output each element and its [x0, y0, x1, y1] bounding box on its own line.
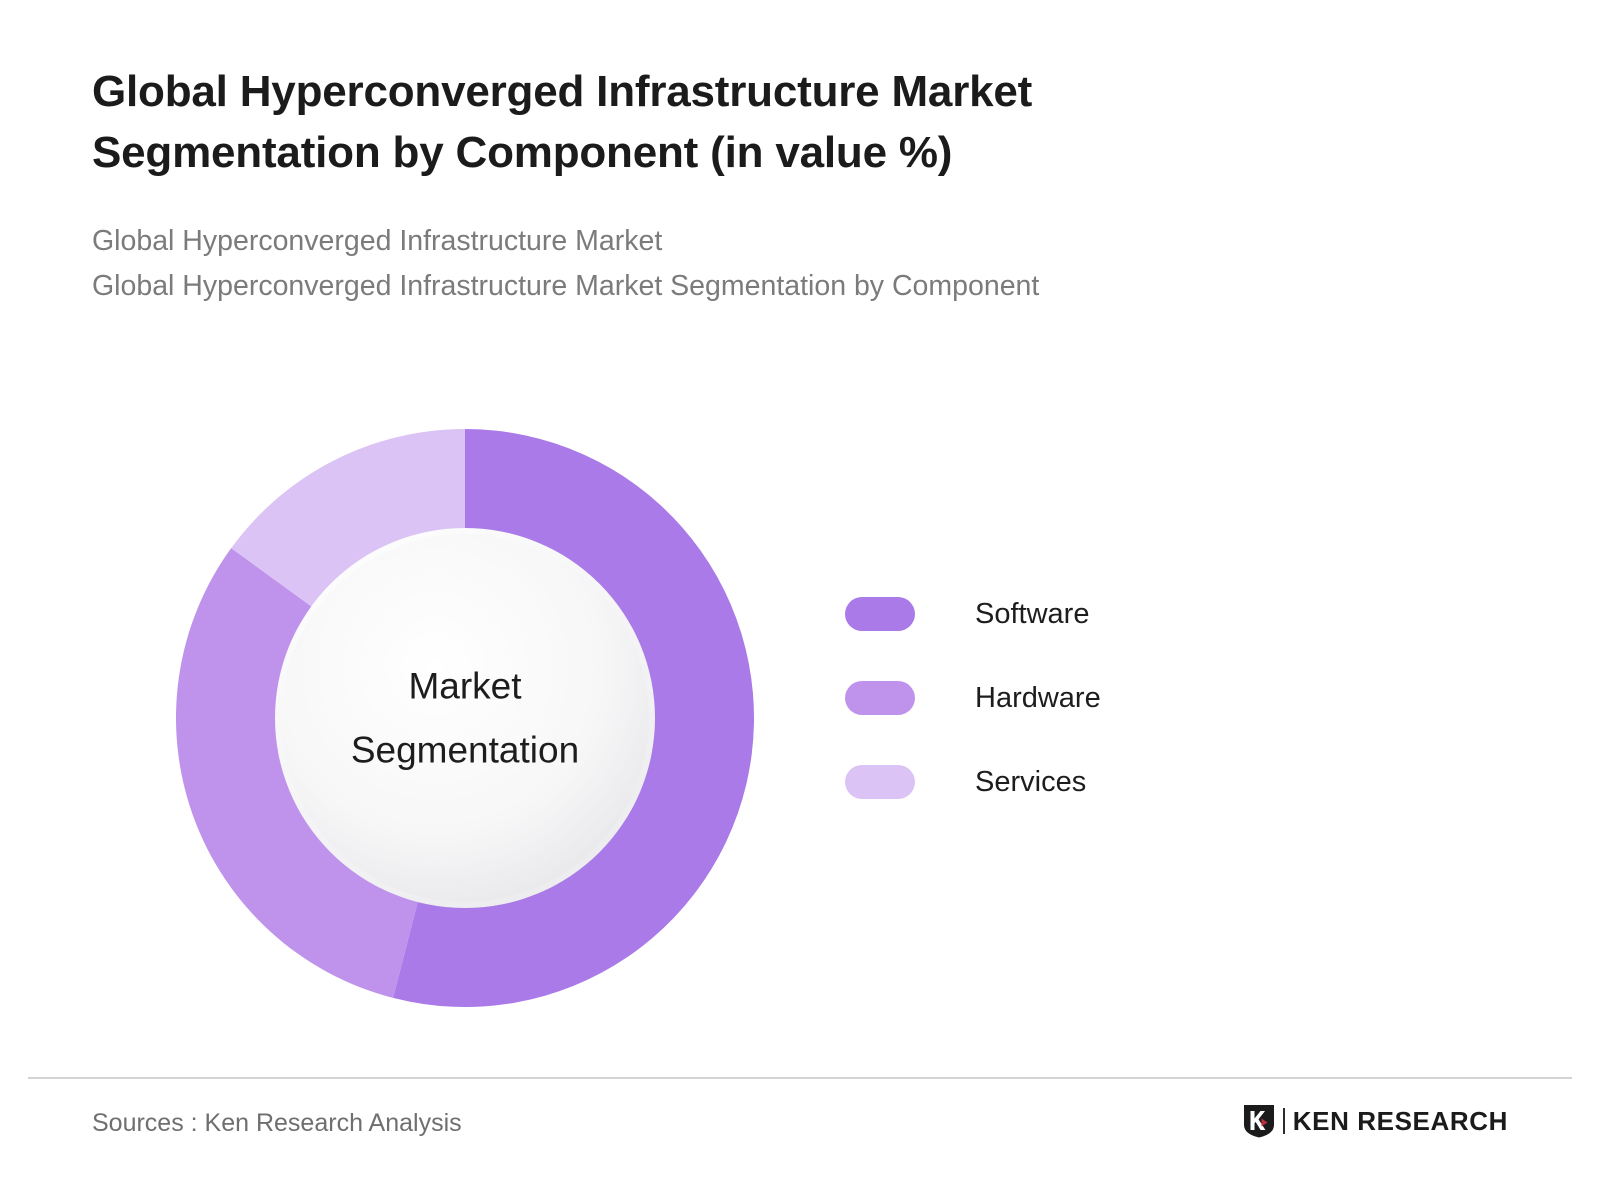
legend-swatch-hardware — [845, 681, 915, 715]
sources-text: Sources : Ken Research Analysis — [92, 1109, 462, 1138]
legend-item-services[interactable]: Services — [845, 740, 1101, 824]
page-title-line-2: Segmentation by Component (in value %) — [92, 123, 1292, 184]
page-subtitle-line-1: Global Hyperconverged Infrastructure Mar… — [92, 219, 1292, 264]
page-title: Global Hyperconverged Infrastructure Mar… — [92, 62, 1292, 183]
header: Global Hyperconverged Infrastructure Mar… — [92, 62, 1292, 309]
legend-label: Software — [975, 598, 1089, 631]
legend-item-software[interactable]: Software — [845, 572, 1101, 656]
legend-item-hardware[interactable]: Hardware — [845, 656, 1101, 740]
footer: Sources : Ken Research Analysis KEN RESE… — [0, 1077, 1600, 1200]
page-subtitle-line-2: Global Hyperconverged Infrastructure Mar… — [92, 264, 1292, 309]
donut-hole — [281, 534, 649, 902]
ken-research-logo: KEN RESEARCH — [1242, 1101, 1508, 1141]
logo-wordmark: KEN RESEARCH — [1293, 1106, 1508, 1137]
donut-chart: Market Segmentation — [174, 427, 756, 1009]
legend-swatch-services — [845, 765, 915, 799]
chart-area: Market Segmentation SoftwareHardwareServ… — [0, 400, 1600, 1050]
slide-root: Global Hyperconverged Infrastructure Mar… — [0, 0, 1600, 1200]
page-subtitle: Global Hyperconverged Infrastructure Mar… — [92, 219, 1292, 309]
legend-label: Services — [975, 766, 1086, 799]
donut-chart-svg — [174, 427, 756, 1009]
ken-research-shield-k-icon — [1242, 1103, 1276, 1139]
logo-wordmark-text: KEN RESEARCH — [1293, 1106, 1508, 1137]
chart-legend: SoftwareHardwareServices — [845, 572, 1101, 824]
page-title-line-1: Global Hyperconverged Infrastructure Mar… — [92, 62, 1292, 123]
logo-separator-bar — [1283, 1108, 1285, 1134]
legend-swatch-software — [845, 597, 915, 631]
legend-label: Hardware — [975, 682, 1101, 715]
